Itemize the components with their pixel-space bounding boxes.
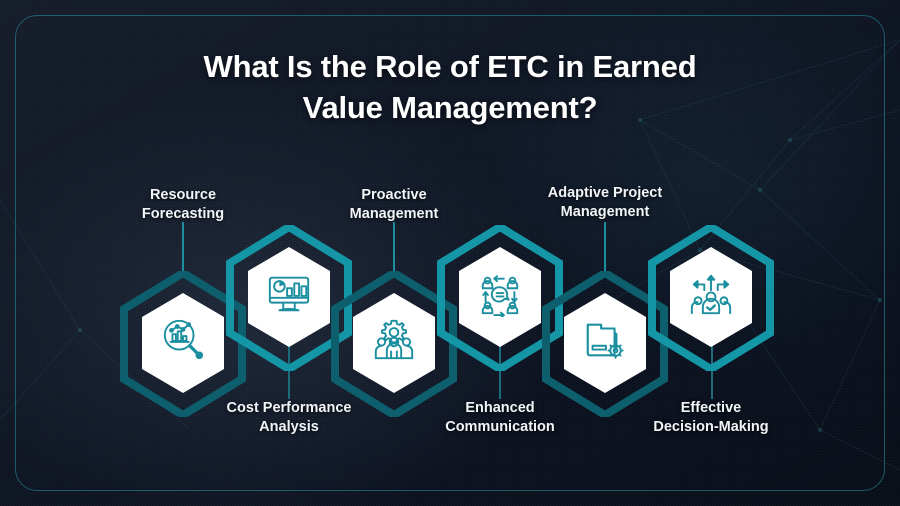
people-direction-arrows-icon (688, 271, 734, 317)
node-effective-decision-making[interactable] (648, 225, 774, 371)
node-label-proactive-management: Proactive Management (284, 186, 504, 223)
node-label-resource-forecasting: Resource Forecasting (73, 186, 293, 223)
page-title-line-2: Value Management? (0, 87, 900, 128)
infographic-stage: What Is the Role of ETC in Earned Value … (0, 0, 900, 506)
magnifier-bar-chart-icon (160, 316, 206, 362)
page-title-line-1: What Is the Role of ETC in Earned (204, 49, 697, 84)
documents-gear-icon (582, 317, 628, 363)
people-network-chat-icon (477, 271, 523, 317)
node-label-adaptive-project-management: Adaptive Project Management (495, 184, 715, 221)
team-gear-icon (371, 317, 417, 363)
page-title: What Is the Role of ETC in Earned Value … (0, 46, 900, 128)
node-label-effective-decision-making: Effective Decision-Making (601, 399, 821, 436)
monitor-dashboard-icon (266, 271, 312, 317)
connector-proactive-management (393, 222, 395, 274)
connector-resource-forecasting (182, 222, 184, 274)
connector-adaptive-project-management (604, 222, 606, 274)
